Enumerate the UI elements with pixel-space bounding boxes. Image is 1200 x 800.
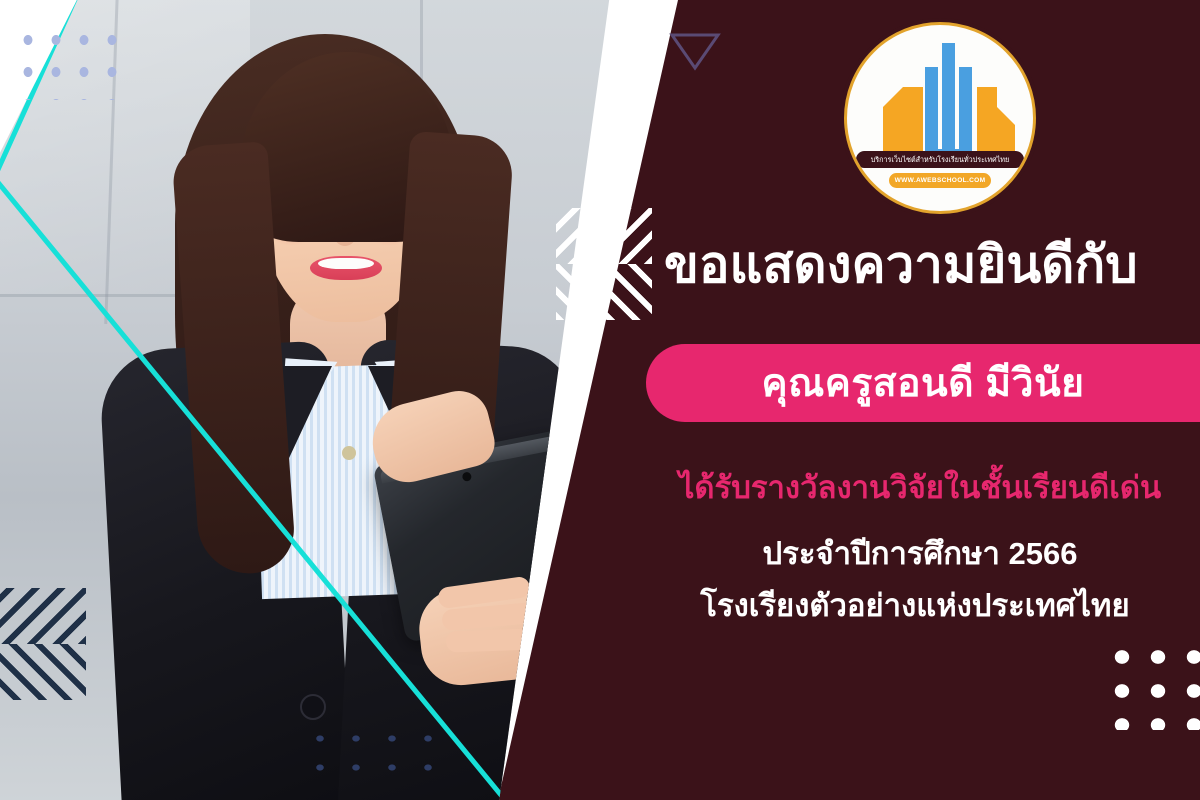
shirt-button [342,446,356,460]
school-name: โรงเรียงตัวอย่างแห่งประเทศไทย [650,580,1180,630]
academic-year: ประจำปีการศึกษา 2566 [660,528,1180,578]
logo-url: WWW.AWEBSCHOOL.COM [889,173,991,188]
logo-caption: บริการเว็บไซต์สำหรับโรงเรียนทั่วประเทศไท… [856,151,1024,168]
jacket-button [300,694,326,720]
chevron-pattern-heading [556,208,652,320]
dot-grid-on-photo [300,722,440,784]
congratulation-poster: บริการเว็บไซต์สำหรับโรงเรียนทั่วประเทศไท… [0,0,1200,800]
teacher-photo [0,0,610,800]
honoree-name-banner: คุณครูสอนดี มีวินัย [646,344,1200,422]
dot-grid-top-left [14,24,134,100]
teeth [318,258,374,269]
honoree-name: คุณครูสอนดี มีวินัย [762,352,1085,414]
triangle-down-svg [668,30,722,72]
chevron-pattern-bottom-left [0,588,86,700]
triangle-down-icon [668,30,722,72]
award-description: ได้รับรางวัลงานวิจัยในชั้นเรียนดีเด่น [660,462,1180,512]
headline: ขอแสดงความยินดีกับ [664,236,1184,295]
dot-grid-bottom-right [1104,640,1200,730]
school-logo: บริการเว็บไซต์สำหรับโรงเรียนทั่วประเทศไท… [844,22,1036,214]
person-figure [0,0,610,800]
finger [446,628,537,652]
tablet-camera [462,471,473,482]
